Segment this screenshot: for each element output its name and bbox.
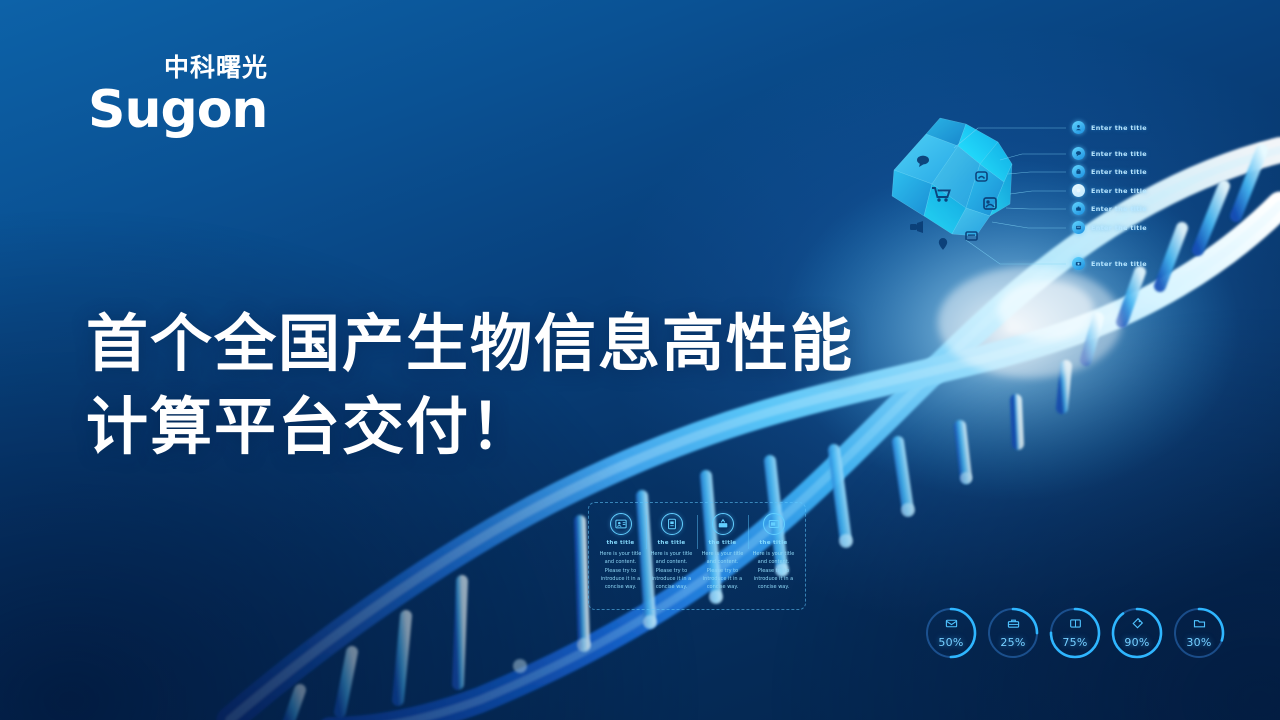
polyhedron-infographic: Enter the title Enter the title Enter th… (880, 112, 1180, 287)
camera-icon (1072, 257, 1085, 270)
headline-line-1: 首个全国产生物信息高性能 (86, 307, 854, 380)
poly-row-2[interactable]: Enter the title (1072, 147, 1147, 160)
page-title: 首个全国产生物信息高性能 计算平台交付！ (86, 302, 906, 468)
widget-text-2: Here is your title and content. Please t… (650, 550, 694, 591)
person-icon (1072, 121, 1085, 134)
print-icon (712, 513, 734, 535)
circle-icon (1072, 184, 1085, 197)
ring-arc-2 (986, 606, 1040, 660)
widget-text-3: Here is your title and content. Please t… (701, 550, 745, 591)
widget-text-1: Here is your title and content. Please t… (599, 550, 643, 591)
poly-label-7: Enter the title (1091, 260, 1147, 268)
poly-row-4[interactable]: Enter the title (1072, 184, 1147, 197)
id-card-icon (661, 513, 683, 535)
percentage-ring-4[interactable]: 90% (1112, 608, 1162, 658)
percentage-ring-2[interactable]: 25% (988, 608, 1038, 658)
ring-arc-4 (1110, 606, 1164, 660)
ring-arc-5 (1172, 606, 1226, 660)
poly-row-7[interactable]: Enter the title (1072, 257, 1147, 270)
logo-chinese-name: 中科曙光 (150, 55, 282, 80)
widget-title-1: the title (606, 540, 634, 546)
megaphone-icon (910, 221, 923, 233)
poly-row-1[interactable]: Enter the title (1072, 121, 1147, 134)
widget-title-3: the title (708, 540, 736, 546)
ring-arc-3 (1048, 606, 1102, 660)
contact-card-icon (610, 513, 632, 535)
briefcase-icon (1072, 202, 1085, 215)
widget-title-4: the title (759, 540, 787, 546)
poly-row-5[interactable]: Enter the title (1072, 202, 1147, 215)
bag-icon (1072, 165, 1085, 178)
logo-english-name: Sugon (88, 84, 288, 136)
sugon-logo: 中科曙光 Sugon (88, 55, 288, 136)
ring-arc-1 (924, 606, 978, 660)
poly-row-6[interactable]: Enter the title (1072, 221, 1147, 234)
slide-canvas: 中科曙光 Sugon 首个全国产生物信息高性能 计算平台交付！ (0, 0, 1280, 720)
poly-label-5: Enter the title (1091, 205, 1147, 213)
widget-title-2: the title (657, 540, 685, 546)
screen-icon (763, 513, 785, 535)
chat-icon (1072, 147, 1085, 160)
widget-column-4[interactable]: the title Here is your title and content… (748, 513, 799, 591)
poly-row-3[interactable]: Enter the title (1072, 165, 1147, 178)
widget-column-1[interactable]: the title Here is your title and content… (595, 513, 646, 591)
poly-label-1: Enter the title (1091, 124, 1147, 132)
pin-icon (939, 238, 947, 250)
percentage-ring-5[interactable]: 30% (1174, 608, 1224, 658)
percentage-ring-1[interactable]: 50% (926, 608, 976, 658)
poly-label-2: Enter the title (1091, 150, 1147, 158)
widget-text-4: Here is your title and content. Please t… (752, 550, 796, 591)
poly-label-4: Enter the title (1091, 187, 1147, 195)
percentage-ring-3[interactable]: 75% (1050, 608, 1100, 658)
percentage-rings-group: 50% 25% (926, 608, 1224, 672)
poly-label-6: Enter the title (1091, 224, 1147, 232)
widget-column-2[interactable]: the title Here is your title and content… (646, 513, 697, 591)
widget-column-3[interactable]: the title Here is your title and content… (697, 513, 748, 591)
headline-line-2: 计算平台交付！ (86, 385, 906, 468)
feature-widget-panel: the title Here is your title and content… (588, 502, 806, 610)
window-icon (1072, 221, 1085, 234)
poly-label-3: Enter the title (1091, 168, 1147, 176)
